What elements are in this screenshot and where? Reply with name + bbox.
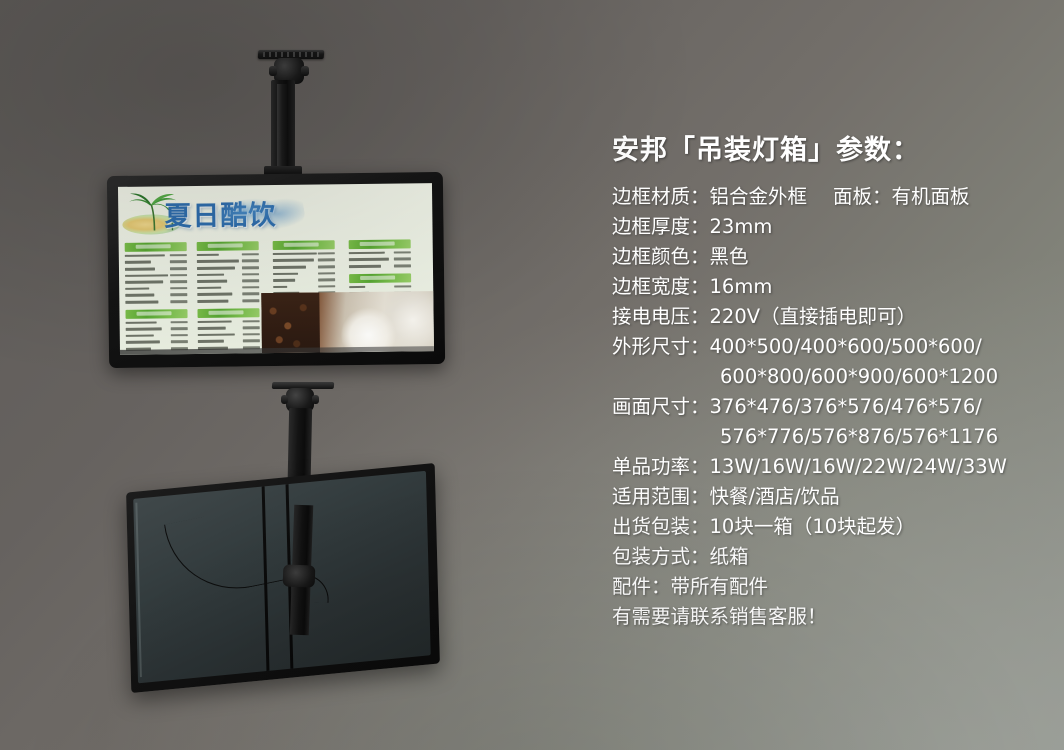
panel-edge-highlight [135, 503, 142, 678]
spec-label: 边框厚度： [612, 215, 710, 238]
section-header [125, 242, 187, 252]
spec-label: 边框材质： [612, 185, 710, 208]
spec-label: 画面尺寸： [612, 395, 710, 418]
spec-value-secondary: 有机面板 [892, 185, 970, 208]
spec-value: 黑色 [710, 245, 749, 268]
menu-row [125, 272, 187, 278]
spec-label: 适用范围： [612, 485, 710, 508]
power-cable [164, 500, 294, 602]
spec-label: 出货包装： [612, 515, 710, 538]
spec-line-frame-material: 边框材质：铝合金外框面板：有机面板 [612, 182, 1064, 212]
pivot-knob-left-lower-icon [281, 395, 288, 404]
menu-row [349, 263, 411, 269]
spec-value: 带所有配件 [671, 575, 769, 598]
spec-label-secondary: 面板： [833, 185, 892, 208]
menu-row [198, 332, 260, 338]
spec-line-application: 适用范围：快餐/酒店/饮品 [612, 482, 1064, 512]
menu-row [197, 252, 259, 258]
menu-row [349, 257, 411, 263]
menu-row [197, 278, 259, 284]
spec-line-accessories: 配件：带所有配件 [612, 572, 1064, 602]
spec-title: 安邦「吊装灯箱」参数： [612, 128, 920, 167]
menu-row [197, 272, 259, 278]
menu-row [198, 338, 260, 344]
spec-line-frame-width: 边框宽度：16mm [612, 272, 1064, 302]
menu-row [198, 319, 260, 325]
spec-label: 配件： [612, 575, 671, 598]
menu-row [197, 285, 259, 291]
section-header [273, 240, 335, 250]
spec-line-graphic-size: 画面尺寸：376*476/376*576/476*576/ [612, 392, 1064, 422]
spec-list: 边框材质：铝合金外框面板：有机面板 边框厚度：23mm 边框颜色：黑色 边框宽度… [612, 182, 1064, 632]
menu-poster: 夏日酷饮 [118, 183, 434, 355]
menu-row [273, 284, 335, 290]
menu-section [125, 242, 188, 305]
menu-row [273, 271, 335, 277]
spec-label: 边框颜色： [612, 245, 710, 268]
spec-value: 16mm [710, 275, 773, 298]
menu-row [126, 319, 188, 325]
pivot-knob-left-icon [269, 66, 277, 76]
section-header [197, 241, 259, 251]
coffee-photo [261, 291, 434, 353]
menu-row [125, 259, 187, 265]
menu-row [273, 251, 335, 257]
menu-row [273, 257, 335, 263]
spec-value: 快餐/酒店/饮品 [710, 485, 840, 508]
menu-row [125, 279, 187, 285]
section-header [125, 309, 187, 319]
spec-line-contact-note: 有需要请联系销售客服！ [612, 602, 1064, 632]
menu-row [198, 325, 260, 331]
menu-row [197, 265, 259, 271]
menu-section [197, 308, 260, 351]
mount-plate-holes [263, 52, 319, 57]
menu-row [349, 250, 411, 256]
spec-value: 纸箱 [710, 545, 749, 568]
spec-line-outer-size: 外形尺寸：400*500/400*600/500*600/ [612, 332, 1064, 362]
menu-column-1 [125, 242, 188, 355]
section-header [197, 308, 259, 318]
section-header [349, 273, 411, 283]
section-header [349, 239, 411, 249]
spec-label: 包装方式： [612, 545, 710, 568]
spec-label: 边框宽度： [612, 275, 710, 298]
menu-section [349, 239, 411, 269]
menu-row [125, 266, 187, 272]
menu-row [126, 326, 188, 332]
spec-label: 外形尺寸： [612, 335, 710, 358]
menu-row [197, 291, 259, 297]
menu-row [125, 253, 187, 259]
spec-line-shipping-package: 出货包装：10块一箱（10块起发） [612, 512, 1064, 542]
spec-value: 铝合金外框 [710, 185, 808, 208]
spec-value: 376*476/376*576/476*576/ [710, 395, 982, 418]
spec-value: 400*500/400*600/500*600/ [710, 335, 982, 358]
menu-row [197, 298, 259, 304]
spec-value: 23mm [710, 215, 773, 238]
spec-line-outer-size-cont: 600*800/600*900/600*1200 [612, 362, 1064, 392]
product-detail-image: 夏日酷饮 [0, 0, 1064, 750]
light-box-front: 夏日酷饮 [107, 172, 445, 368]
menu-row [126, 339, 188, 345]
menu-row [197, 258, 259, 264]
pivot-knob-right-icon [301, 66, 309, 76]
menu-row [126, 333, 188, 339]
pole-clamp [283, 564, 316, 587]
spec-line-frame-thickness: 边框厚度：23mm [612, 212, 1064, 242]
spec-value: 13W/16W/16W/22W/24W/33W [710, 455, 1007, 478]
menu-row [125, 292, 187, 298]
spec-label: 单品功率： [612, 455, 710, 478]
spec-line-voltage: 接电电压：220V（直接插电即可） [612, 302, 1064, 332]
mounting-pole-upper-highlight [277, 84, 287, 170]
spec-value: 10块一箱（10块起发） [710, 515, 916, 538]
spec-line-power: 单品功率：13W/16W/16W/22W/24W/33W [612, 452, 1064, 482]
spec-value: 220V（直接插电即可） [710, 305, 917, 328]
menu-row [273, 264, 335, 270]
spec-line-packaging: 包装方式：纸箱 [612, 542, 1064, 572]
pivot-knob-right-lower-icon [312, 395, 319, 404]
spec-line-frame-color: 边框颜色：黑色 [612, 242, 1064, 272]
menu-section [197, 241, 260, 304]
menu-row [125, 286, 187, 292]
light-box-panel: 夏日酷饮 [118, 183, 434, 355]
spec-label: 接电电压： [612, 305, 710, 328]
menu-section [125, 309, 188, 352]
spec-line-graphic-size-cont: 576*776/576*876/576*1176 [612, 422, 1064, 452]
menu-row [273, 277, 335, 283]
product-photo: 夏日酷饮 [0, 0, 580, 750]
spec-panel: 安邦「吊装灯箱」参数： 边框材质：铝合金外框面板：有机面板 边框厚度：23mm … [612, 0, 1064, 750]
menu-row [125, 299, 187, 305]
menu-column-2 [197, 241, 260, 355]
poster-title-zone: 夏日酷饮 [122, 187, 301, 245]
menu-row [349, 284, 411, 290]
